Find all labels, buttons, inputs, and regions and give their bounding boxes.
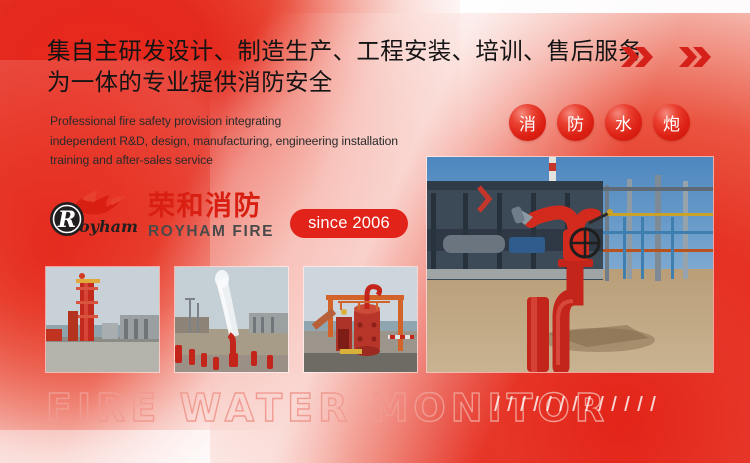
badge-fang: 防 <box>557 104 594 141</box>
svg-text:oyham: oyham <box>79 217 138 236</box>
svg-text:R: R <box>57 207 76 233</box>
company-logo: R oyham 荣和消防 ROYHAM FIRE <box>46 190 274 242</box>
headline-line-2: 为一体的专业提供消防安全 <box>47 67 617 98</box>
slash-mark <box>533 396 539 411</box>
thumb-photo-water-jet <box>175 267 288 372</box>
subtitle: Professional fire safety provision integ… <box>50 112 398 171</box>
badge-shui: 水 <box>605 104 642 141</box>
slash-mark <box>637 396 643 411</box>
logo-text-block: 荣和消防 ROYHAM FIRE <box>148 192 274 241</box>
slash-mark <box>624 396 630 411</box>
slash-mark <box>572 396 578 411</box>
subtitle-line-3: training and after-sales service <box>50 151 398 171</box>
fire-water-monitor-banner: 集自主研发设计、制造生产、工程安装、培训、售后服务 为一体的专业提供消防安全 P… <box>0 0 750 463</box>
badge-xiao: 消 <box>509 104 546 141</box>
double-chevron-right-icon <box>620 45 654 69</box>
slash-decorations <box>496 396 654 411</box>
logo-mark: R oyham <box>46 190 142 242</box>
double-chevron-right-icon-2 <box>678 45 712 69</box>
slash-mark <box>546 396 552 411</box>
flame-r-emblem-icon: R oyham <box>46 190 142 242</box>
chevron-arrows-group <box>620 45 712 69</box>
main-photo-fire-monitor <box>427 157 713 372</box>
badge-pao: 炮 <box>653 104 690 141</box>
slash-mark <box>559 396 565 411</box>
logo-english-name: ROYHAM FIRE <box>148 222 274 241</box>
subtitle-line-1: Professional fire safety provision integ… <box>50 112 398 132</box>
since-badge: since 2006 <box>290 209 408 238</box>
slash-mark <box>611 396 617 411</box>
slash-mark <box>520 396 526 411</box>
thumb-photo-monitor-tower <box>46 267 159 372</box>
thumb-photo-foam-tank <box>304 267 417 372</box>
slash-mark <box>585 396 591 411</box>
slash-mark <box>507 396 513 411</box>
logo-chinese-name: 荣和消防 <box>148 192 274 221</box>
headline: 集自主研发设计、制造生产、工程安装、培训、售后服务 为一体的专业提供消防安全 <box>47 36 617 98</box>
subtitle-line-2: independent R&D, design, manufacturing, … <box>50 132 398 152</box>
keyword-badges: 消 防 水 炮 <box>509 104 690 141</box>
headline-line-1: 集自主研发设计、制造生产、工程安装、培训、售后服务 <box>47 36 617 67</box>
slash-mark <box>598 396 604 411</box>
